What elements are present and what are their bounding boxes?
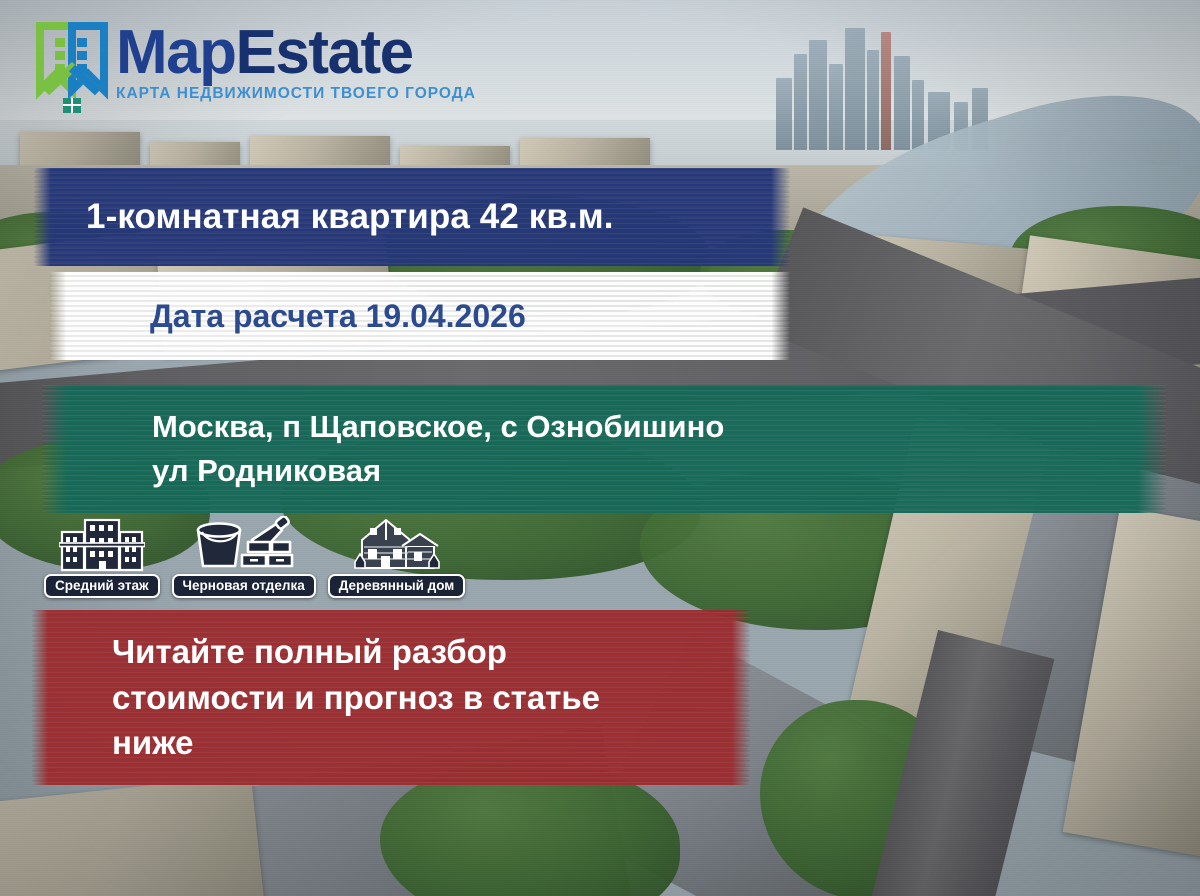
badge-floor-level[interactable]: Средний этаж bbox=[44, 516, 160, 598]
property-title-text: 1-комнатная квартира 42 кв.м. bbox=[34, 197, 790, 237]
paint-bucket-trowel-icon bbox=[192, 516, 296, 572]
badge-label: Средний этаж bbox=[44, 574, 160, 598]
brand-tagline: КАРТА НЕДВИЖИМОСТИ ТВОЕГО ГОРОДА bbox=[116, 85, 476, 103]
brand-name-map: Map bbox=[116, 18, 236, 87]
cta-line-3: ниже bbox=[112, 720, 750, 766]
brand-name-estate: Estate bbox=[236, 18, 413, 87]
apartment-building-icon bbox=[59, 516, 145, 572]
badge-finish-type[interactable]: Черновая отделка bbox=[172, 516, 316, 598]
map-estate-bookmark-logo-icon bbox=[36, 22, 108, 118]
address-line-1: Москва, п Щаповское, с Ознобишино bbox=[152, 405, 1166, 449]
brand-logo[interactable]: MapEstate КАРТА НЕДВИЖИМОСТИ ТВОЕГО ГОРО… bbox=[36, 22, 476, 118]
badge-house-material[interactable]: Деревянный дом bbox=[328, 516, 466, 598]
property-card-poster: MapEstate КАРТА НЕДВИЖИМОСТИ ТВОЕГО ГОРО… bbox=[0, 0, 1200, 896]
calculation-date-banner: Дата расчета 19.04.2026 bbox=[50, 272, 790, 360]
cta-text: Читайте полный разбор стоимости и прогно… bbox=[32, 629, 750, 766]
address-banner: Москва, п Щаповское, с Ознобишино ул Род… bbox=[42, 385, 1166, 513]
cta-line-2: стоимости и прогноз в статье bbox=[112, 675, 750, 721]
brand-name: MapEstate bbox=[116, 24, 476, 83]
calculation-date-text: Дата расчета 19.04.2026 bbox=[50, 298, 790, 335]
address-line-2: ул Родниковая bbox=[152, 449, 1166, 493]
address-text: Москва, п Щаповское, с Ознобишино ул Род… bbox=[42, 405, 1166, 493]
property-title-banner: 1-комнатная квартира 42 кв.м. bbox=[34, 168, 790, 266]
cta-line-1: Читайте полный разбор bbox=[112, 629, 750, 675]
badge-label: Черновая отделка bbox=[172, 574, 316, 598]
feature-badges: Средний этаж bbox=[44, 516, 465, 598]
cta-banner[interactable]: Читайте полный разбор стоимости и прогно… bbox=[32, 610, 750, 785]
wooden-house-icon bbox=[352, 516, 442, 572]
badge-label: Деревянный дом bbox=[328, 574, 466, 598]
